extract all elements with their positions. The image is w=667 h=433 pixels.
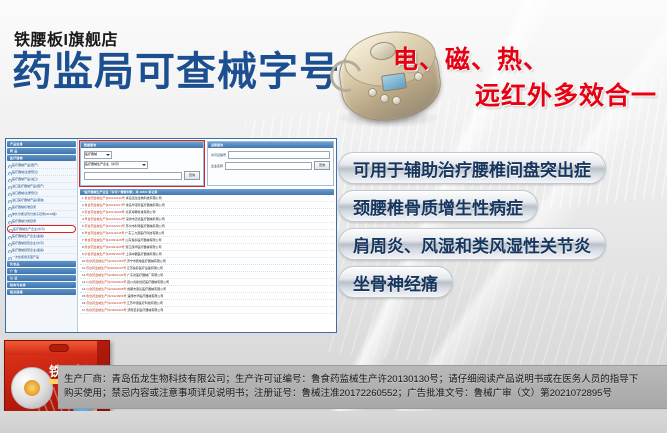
box-device-icon — [11, 367, 53, 409]
page-title: 药监局可查械字号 — [12, 52, 340, 92]
sidebar-section-devices[interactable]: 医疗器械 — [7, 155, 76, 161]
feature-pill-1: 可用于辅助治疗腰椎间盘突出症 — [338, 152, 606, 184]
result-row[interactable]: 7.鲁食药监械生产许20091128号 山东恒泰医疗器械有限公司 — [80, 237, 334, 244]
result-company-name: 青岛华诺普医疗器械有限公司 — [125, 203, 165, 207]
sidebar-item-13[interactable]: 一次性使用无菌产品 — [7, 254, 76, 261]
result-license-number[interactable]: 川食药监械生产许20110528号 — [86, 287, 126, 291]
feature-pill-label: 颈腰椎骨质增生性病症 — [353, 194, 523, 219]
result-license-number[interactable]: 鲁食药监械生产许20111064号 — [86, 259, 126, 263]
result-row[interactable]: 11.苏食药监械生产许20091107号 江苏鱼跃医疗设备有限公司 — [80, 265, 334, 272]
sidebar-item-4[interactable]: 进口器械(注册登记) — [7, 190, 76, 197]
screenshot-sidebar: 产品信息 药 品 医疗器械 医疗器械产品(国产) 医疗器械(注册登记) 医疗器械… — [6, 139, 78, 332]
feature-pill-label: 可用于辅助治疗腰椎间盘突出症 — [353, 156, 591, 181]
result-company-name: 上海中器医疗器械有限公司 — [125, 252, 162, 256]
product-device-image — [330, 22, 450, 132]
result-row[interactable]: 9.沪食药监械生产许20091516号 上海中器医疗器械有限公司 — [80, 251, 334, 258]
keyword-input[interactable] — [84, 172, 182, 180]
feature-pill-label: 坐骨神经痛 — [353, 270, 438, 295]
result-license-number[interactable]: 川食药监械生产许20102611号 — [86, 280, 126, 284]
store-brand-name: 铁腰板I旗舰店 — [14, 26, 118, 50]
result-license-number[interactable]: 粤食药监械生产许20160212号 — [85, 217, 125, 221]
bottom-bar — [0, 411, 667, 433]
search-row-category: 医疗器械 — [84, 151, 200, 159]
sidebar-item-11[interactable]: 医疗器械经营企业(许可) — [7, 240, 76, 247]
box-handle-hole — [49, 344, 69, 352]
result-license-number[interactable]: 鲁食药监械生产许20091128号 — [85, 238, 125, 242]
sidebar-item-selected[interactable]: 医疗器械生产企业(许可) — [7, 225, 76, 233]
result-company-name: 济南圣泰医疗器械有限公司 — [127, 308, 164, 312]
result-license-number[interactable]: 鲁食药监械生产许20130217号 — [85, 203, 125, 207]
sidebar-section-links[interactable]: 相关链接 — [7, 289, 76, 295]
result-row[interactable]: 5.苏食药监械生产许20160214号 苏州市科瑞医疗器械有限公司 — [80, 223, 334, 230]
license-lookup-panel: 证照查询 许可证编号 企业名称 查询 — [207, 141, 334, 186]
result-company-name: 青岛伍龙生物科技有限公司 — [125, 196, 162, 200]
sidebar-item-12[interactable]: 医疗器械经营企业(备案) — [7, 247, 76, 254]
feature-pill-3: 肩周炎、风湿和类风湿性关节炎 — [338, 228, 606, 260]
result-company-name: 淄博市华医疗器械有限公司 — [127, 294, 164, 298]
sidebar-item-5[interactable]: 进口医疗器械产品(港澳) — [7, 197, 76, 204]
result-row[interactable]: 2.鲁食药监械生产许20130217号 青岛华诺普医疗器械有限公司 — [80, 202, 334, 209]
feature-pill-4: 坐骨神经痛 — [338, 266, 453, 298]
slogan-line-2: 远红外多效合一 — [475, 76, 657, 112]
result-row[interactable]: 17.鲁食药监械生产许20091609号 济南圣泰医疗器械有限公司 — [80, 307, 334, 314]
device-button-icon — [368, 88, 377, 97]
result-row[interactable]: 16.苏食药监械生产许20111037号 江苏华康医疗科技有限公司 — [80, 300, 334, 307]
result-company-name: 山东恒泰医疗器械有限公司 — [125, 238, 162, 242]
result-license-number[interactable]: 鲁食药监械生产许20120966号 — [86, 294, 126, 298]
search-button[interactable]: 查询 — [184, 171, 200, 180]
category-select[interactable]: 医疗器械 — [84, 151, 112, 159]
result-company-name: 苏州市科瑞医疗器械有限公司 — [125, 224, 165, 228]
result-company-name: 深圳市迈德医疗器械有限公司 — [125, 217, 165, 221]
feature-pill-label: 肩周炎、风湿和类风湿性关节炎 — [353, 232, 591, 257]
legal-footer: 生产厂商：青岛伍龙生物科技有限公司；生产许可证编号：鲁食药监械生产许201301… — [58, 365, 667, 409]
result-row[interactable]: 4.粤食药监械生产许20160212号 深圳市迈德医疗器械有限公司 — [80, 216, 334, 223]
result-row[interactable]: 14.川食药监械生产许20110528号 成都市康弘医疗器械有限公司 — [80, 286, 334, 293]
device-button-icon — [380, 94, 389, 103]
company-name-input[interactable] — [225, 162, 312, 170]
result-company-name: 广东三力康医疗科技有限公司 — [124, 231, 164, 235]
result-license-number[interactable]: 浙食药监械生产许20091106号 — [85, 245, 125, 249]
result-company-name: 江苏鱼跃医疗设备有限公司 — [126, 266, 163, 270]
lookup-panel-body: 许可证编号 企业名称 查询 — [208, 148, 333, 175]
result-company-name: 广东省医疗器械厂有限公司 — [126, 273, 163, 277]
result-license-number[interactable]: 苏食药监械生产许20091107号 — [86, 266, 126, 270]
sidebar-section-certification[interactable]: 认 证 — [7, 275, 76, 281]
company-name-label: 企业名称 — [211, 164, 223, 168]
slogan-line-1: 电、磁、热、 — [393, 40, 549, 76]
result-row[interactable]: 15.鲁食药监械生产许20120966号 淄博市华医疗器械有限公司 — [80, 293, 334, 300]
search-row-subcategory: 医疗器械生产企业（许可） — [84, 161, 200, 169]
lookup-search-button[interactable]: 查询 — [314, 161, 330, 170]
sidebar-section-cosmetics[interactable]: 化妆品 — [7, 261, 76, 267]
result-row[interactable]: 13.川食药监械生产许20102611号 四川省新世纪医疗器械有限公司 — [80, 279, 334, 286]
result-company-name: 北京海畅科技有限公司 — [125, 210, 156, 214]
advertisement-poster: 铁腰板I旗舰店 药监局可查械字号 电、磁、热、 远红外多效合一 可用于辅助治疗腰… — [0, 0, 667, 433]
result-company-name: 济宁市辰信医疗器械有限公司 — [126, 259, 166, 263]
government-database-screenshot: 产品信息 药 品 医疗器械 医疗器械产品(国产) 医疗器械(注册登记) 医疗器械… — [5, 138, 337, 333]
feature-list: 可用于辅助治疗腰椎间盘突出症 颈腰椎骨质增生性病症 肩周炎、风湿和类风湿性关节炎… — [338, 152, 660, 304]
result-company-name: 四川省新世纪医疗器械有限公司 — [126, 280, 169, 284]
sidebar-item-7[interactable]: 体外诊断试剂分类子目录(2013版) — [7, 211, 76, 218]
lookup-row-license: 许可证编号 — [211, 151, 330, 159]
sidebar-section-products[interactable]: 产品信息 — [7, 141, 76, 147]
search-panel-body: 医疗器械 医疗器械生产企业（许可） 查询 — [81, 148, 203, 185]
search-row-keyword: 查询 — [84, 171, 200, 180]
sidebar-item-0[interactable]: 医疗器械产品(国产) — [7, 162, 76, 169]
result-company-name: 浙江康华医疗器械有限公司 — [125, 245, 162, 249]
result-license-number[interactable]: 鲁食药监械生产许20091609号 — [86, 308, 126, 312]
result-company-name: 成都市康弘医疗器械有限公司 — [126, 287, 166, 291]
device-button-icon — [392, 96, 401, 105]
footer-line-1: 生产厂商：青岛伍龙生物科技有限公司；生产许可证编号：鲁食药监械生产许201301… — [64, 373, 661, 387]
license-number-label: 许可证编号 — [211, 153, 226, 157]
license-number-input[interactable] — [228, 151, 330, 159]
sidebar-item-8[interactable]: 医疗器械分类目录 — [7, 218, 76, 225]
result-license-number[interactable]: 苏食药监械生产许20160214号 — [85, 224, 125, 228]
result-row[interactable]: 3.京食药监械生产许20110029号 北京海畅科技有限公司 — [80, 209, 334, 216]
result-license-number[interactable]: 京食药监械生产许20110029号 — [85, 210, 125, 214]
query-panels: 数据查询 医疗器械 医疗器械生产企业（许可） 查询 — [80, 141, 334, 186]
result-row[interactable]: 1.鲁食药监械生产许20130130号 青岛伍龙生物科技有限公司 — [80, 195, 334, 202]
result-license-number[interactable]: 粤食药监械生产许20091102号 — [86, 273, 126, 277]
sidebar-section-drugs[interactable]: 药 品 — [7, 148, 76, 154]
result-license-number[interactable]: 沪食药监械生产许20091516号 — [85, 252, 125, 256]
result-row[interactable]: 8.浙食药监械生产许20091106号 浙江康华医疗器械有限公司 — [80, 244, 334, 251]
sidebar-item-10[interactable]: 医疗器械生产企业(备案) — [7, 233, 76, 240]
feature-pill-2: 颈腰椎骨质增生性病症 — [338, 190, 538, 222]
results-list: 1.鲁食药监械生产许20130130号 青岛伍龙生物科技有限公司2.鲁食药监械生… — [80, 195, 334, 314]
result-license-number[interactable]: 苏食药监械生产许20111037号 — [86, 301, 126, 305]
search-panel: 数据查询 医疗器械 医疗器械生产企业（许可） 查询 — [80, 141, 204, 186]
screenshot-main: 数据查询 医疗器械 医疗器械生产企业（许可） 查询 — [78, 139, 336, 332]
result-company-name: 江苏华康医疗科技有限公司 — [126, 301, 163, 305]
sidebar-section-ads[interactable]: 广 告 — [7, 268, 76, 274]
result-license-number[interactable]: 鲁食药监械生产许20130130号 — [85, 196, 125, 200]
result-row[interactable]: 10.鲁食药监械生产许20111064号 济宁市辰信医疗器械有限公司 — [80, 258, 334, 265]
result-row[interactable]: 6.粤食药监械生产许20111646号 广东三力康医疗科技有限公司 — [80, 230, 334, 237]
lookup-row-company: 企业名称 查询 — [211, 161, 330, 170]
result-license-number[interactable]: 粤食药监械生产许20111646号 — [85, 231, 125, 235]
subcategory-select[interactable]: 医疗器械生产企业（许可） — [84, 161, 148, 169]
sidebar-section-orgs[interactable]: 机构与标准 — [7, 282, 76, 288]
footer-line-2: 购买使用；禁忌内容或注意事项详见说明书；注册证号：鲁械注准20172260552… — [64, 387, 661, 401]
sidebar-item-2[interactable]: 医疗器械产品(进口) — [7, 176, 76, 183]
sidebar-item-1[interactable]: 医疗器械(注册登记) — [7, 169, 76, 176]
result-row[interactable]: 12.粤食药监械生产许20091102号 广东省医疗器械厂有限公司 — [80, 272, 334, 279]
sidebar-item-6[interactable]: 医疗器械标准目录 — [7, 204, 76, 211]
sidebar-item-3[interactable]: 进口医疗器械产品(国产) — [7, 183, 76, 190]
